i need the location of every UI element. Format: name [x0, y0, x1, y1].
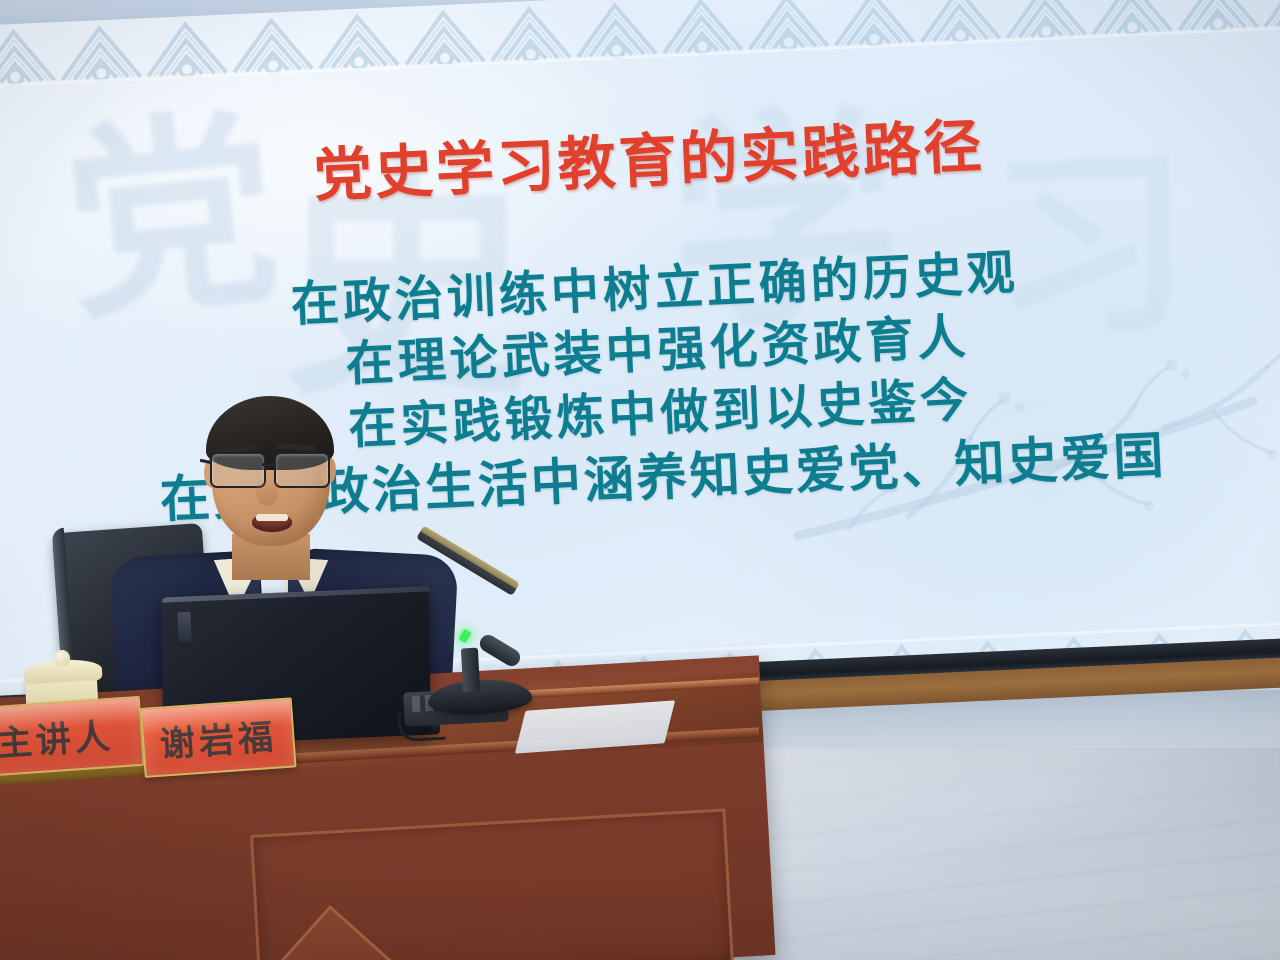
microphone-stem	[461, 648, 480, 693]
photo-scene: 党 史 学 习	[0, 0, 1280, 960]
nameplate-role-text: 主讲人	[0, 707, 115, 766]
eyeglass-lens-right	[274, 452, 330, 488]
eyeglass-bridge	[262, 463, 276, 466]
nose	[256, 478, 278, 506]
nameplate-name-text: 谢岩福	[158, 708, 278, 767]
laptop-brand-logo	[177, 612, 191, 643]
teacup-lid-knob	[54, 650, 71, 667]
nameplate-name: 谢岩福	[140, 697, 297, 777]
teeth	[256, 514, 288, 521]
